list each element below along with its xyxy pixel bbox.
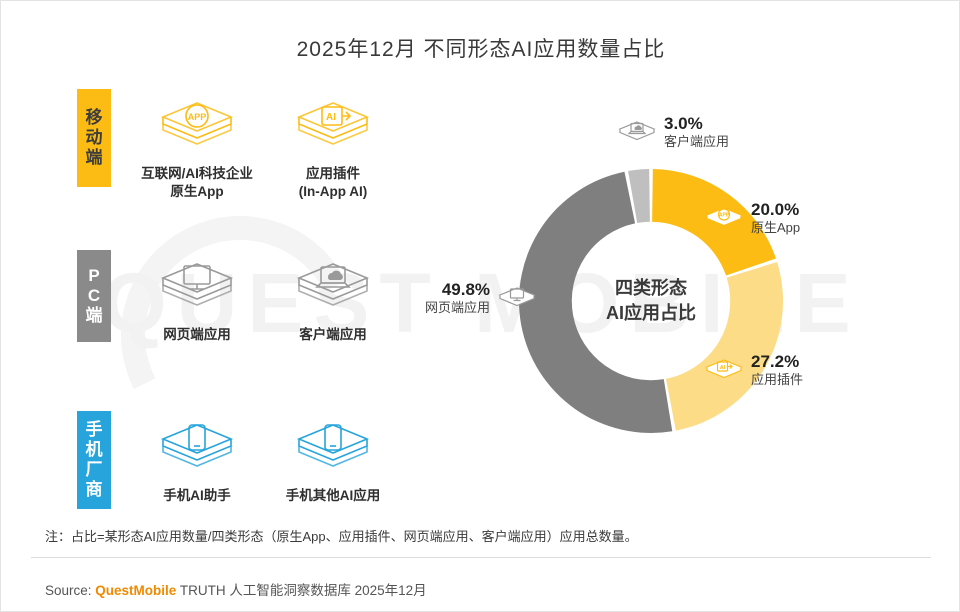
caption-line-1: 手机其他AI应用 <box>253 487 413 505</box>
svg-text:APP: APP <box>719 213 730 219</box>
callout-percent: 20.0% <box>751 200 800 220</box>
callout-name: 网页端应用 <box>425 300 490 316</box>
category-bar-pc: P C 端 <box>77 250 111 342</box>
callout-name: 原生App <box>751 220 800 236</box>
category-char: 动 <box>86 128 103 148</box>
callout-native-app: APP 20.0% 原生App <box>701 199 800 237</box>
callout-percent: 27.2% <box>751 352 803 372</box>
svg-text:AI: AI <box>720 365 726 371</box>
source-prefix: Source: <box>45 583 92 598</box>
laptop-cloud-icon <box>287 248 379 320</box>
callout-percent: 3.0% <box>664 114 729 134</box>
desktop-monitor-icon <box>151 248 243 320</box>
footnote: 注：占比=某形态AI应用数量/四类形态（原生App、应用插件、网页端应用、客户端… <box>45 526 925 545</box>
laptop-cloud-icon <box>614 113 660 151</box>
ai-plugin-icon: AI <box>287 87 379 159</box>
callout-name: 客户端应用 <box>664 134 729 150</box>
icon-cell-caption: 客户端应用 <box>253 326 413 344</box>
phone-icon <box>287 409 379 481</box>
callout-name: 应用插件 <box>751 372 803 388</box>
svg-text:AI: AI <box>326 112 336 123</box>
source-brand: QuestMobile <box>95 583 176 598</box>
icon-cell-in-app-ai: AI 应用插件 (In-App AI) <box>253 87 413 201</box>
page-title: 2025年12月 不同形态AI应用数量占比 <box>1 33 960 63</box>
category-char: C <box>88 286 100 306</box>
app-badge-icon: APP <box>701 199 747 237</box>
icon-cell-caption: 手机其他AI应用 <box>253 487 413 505</box>
phone-icon <box>151 409 243 481</box>
category-char: 手 <box>86 420 103 440</box>
donut-chart: 四类形态 AI应用占比 <box>501 151 801 451</box>
category-char: 商 <box>86 480 103 500</box>
category-char: P <box>88 266 99 286</box>
icon-cell-phone-other-ai: 手机其他AI应用 <box>253 409 413 505</box>
app-badge-icon: APP <box>151 87 243 159</box>
category-char: 端 <box>86 148 103 168</box>
category-bar-mobile: 移 动 端 <box>77 89 111 187</box>
category-char: 厂 <box>86 460 103 480</box>
ai-plugin-icon: AI <box>701 351 747 389</box>
callout-client-app: 3.0% 客户端应用 <box>614 113 729 151</box>
category-char: 机 <box>86 440 103 460</box>
desktop-monitor-icon <box>494 279 540 317</box>
infographic-page: QUEST MOBILE 2025年12月 不同形态AI应用数量占比 移 动 端… <box>0 0 960 612</box>
category-bar-phone: 手 机 厂 商 <box>77 411 111 509</box>
source-line: Source: QuestMobile TRUTH 人工智能洞察数据库 2025… <box>45 579 427 599</box>
callout-plugin: AI 27.2% 应用插件 <box>701 351 803 389</box>
footer-divider <box>31 557 931 558</box>
donut-center-line-1: 四类形态 <box>571 276 731 301</box>
caption-line-1: 应用插件 <box>253 165 413 183</box>
caption-line-1: 客户端应用 <box>253 326 413 344</box>
callout-percent: 49.8% <box>425 280 490 300</box>
donut-center-line-2: AI应用占比 <box>571 301 731 326</box>
category-char: 移 <box>86 108 103 128</box>
category-char: 端 <box>86 306 103 326</box>
icon-cell-caption: 应用插件 (In-App AI) <box>253 165 413 201</box>
callout-web-app: 49.8% 网页端应用 <box>425 279 540 317</box>
donut-center-label: 四类形态 AI应用占比 <box>571 276 731 326</box>
svg-text:APP: APP <box>188 112 207 122</box>
icon-cell-client-app: 客户端应用 <box>253 248 413 344</box>
source-rest: TRUTH 人工智能洞察数据库 2025年12月 <box>180 583 427 598</box>
caption-line-2: (In-App AI) <box>253 183 413 201</box>
